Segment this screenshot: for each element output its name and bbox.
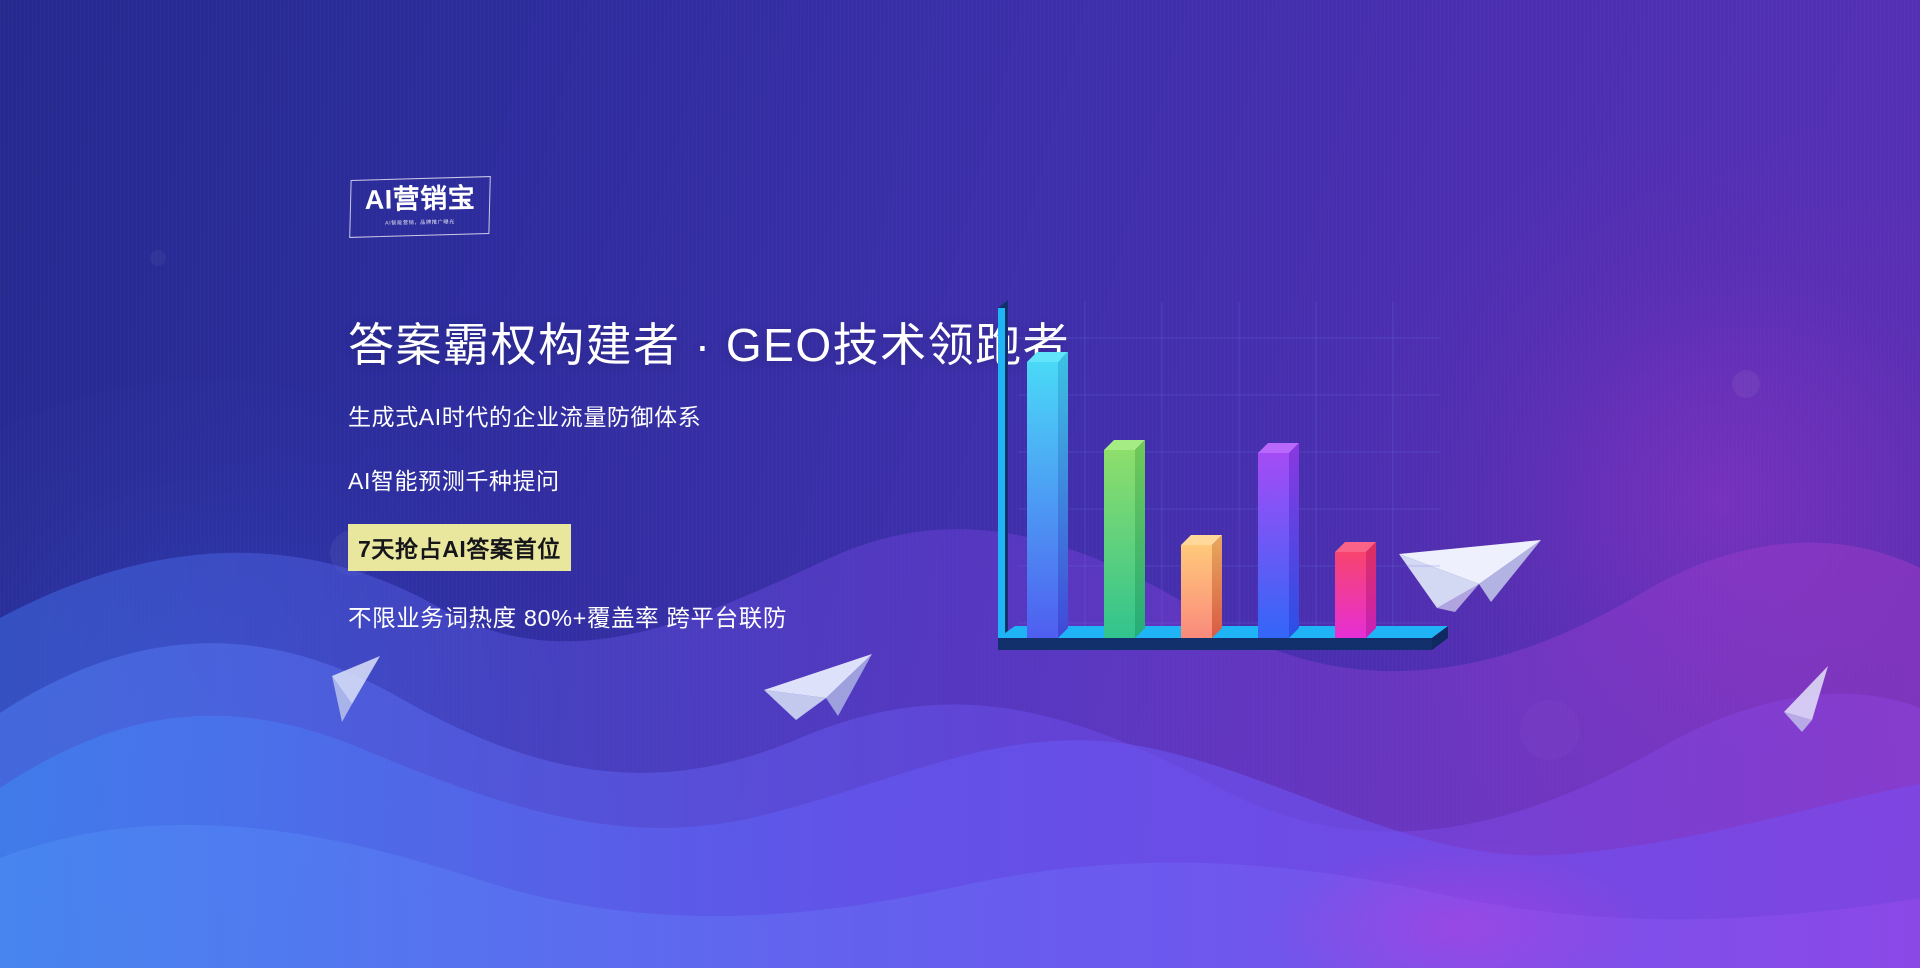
chart-y-axis bbox=[998, 300, 1008, 650]
bar-5 bbox=[1335, 542, 1376, 638]
paper-plane-small-left-icon bbox=[760, 640, 880, 726]
bar-3 bbox=[1181, 535, 1222, 638]
wave-layer-2 bbox=[0, 643, 1920, 968]
wave-glow-blob bbox=[1270, 838, 1650, 968]
hero-banner: AI营销宝 AI智能营销，品牌推广曝光 答案霸权构建者 · GEO技术领跑者 生… bbox=[0, 0, 1920, 968]
decor-circle bbox=[150, 250, 166, 266]
logo-text: AI营销宝 bbox=[350, 185, 490, 214]
paper-plane-small-mid-icon bbox=[326, 650, 388, 730]
bar-4 bbox=[1258, 443, 1299, 638]
wave-layer-3 bbox=[0, 716, 1920, 968]
bar-chart-illustration bbox=[970, 290, 1470, 670]
highlight-badge: 7天抢占AI答案首位 bbox=[348, 524, 571, 571]
decor-circle bbox=[1520, 700, 1580, 760]
chart-grid bbox=[1018, 302, 1440, 642]
bar-1 bbox=[1027, 352, 1068, 638]
bar-chart-svg bbox=[970, 290, 1470, 670]
brand-logo[interactable]: AI营销宝 AI智能营销，品牌推广曝光 bbox=[350, 178, 490, 236]
decor-circle bbox=[1732, 370, 1760, 398]
paper-plane-small-right-icon bbox=[1776, 660, 1834, 738]
wave-layer-4 bbox=[0, 825, 1920, 968]
bar-2 bbox=[1104, 440, 1145, 638]
